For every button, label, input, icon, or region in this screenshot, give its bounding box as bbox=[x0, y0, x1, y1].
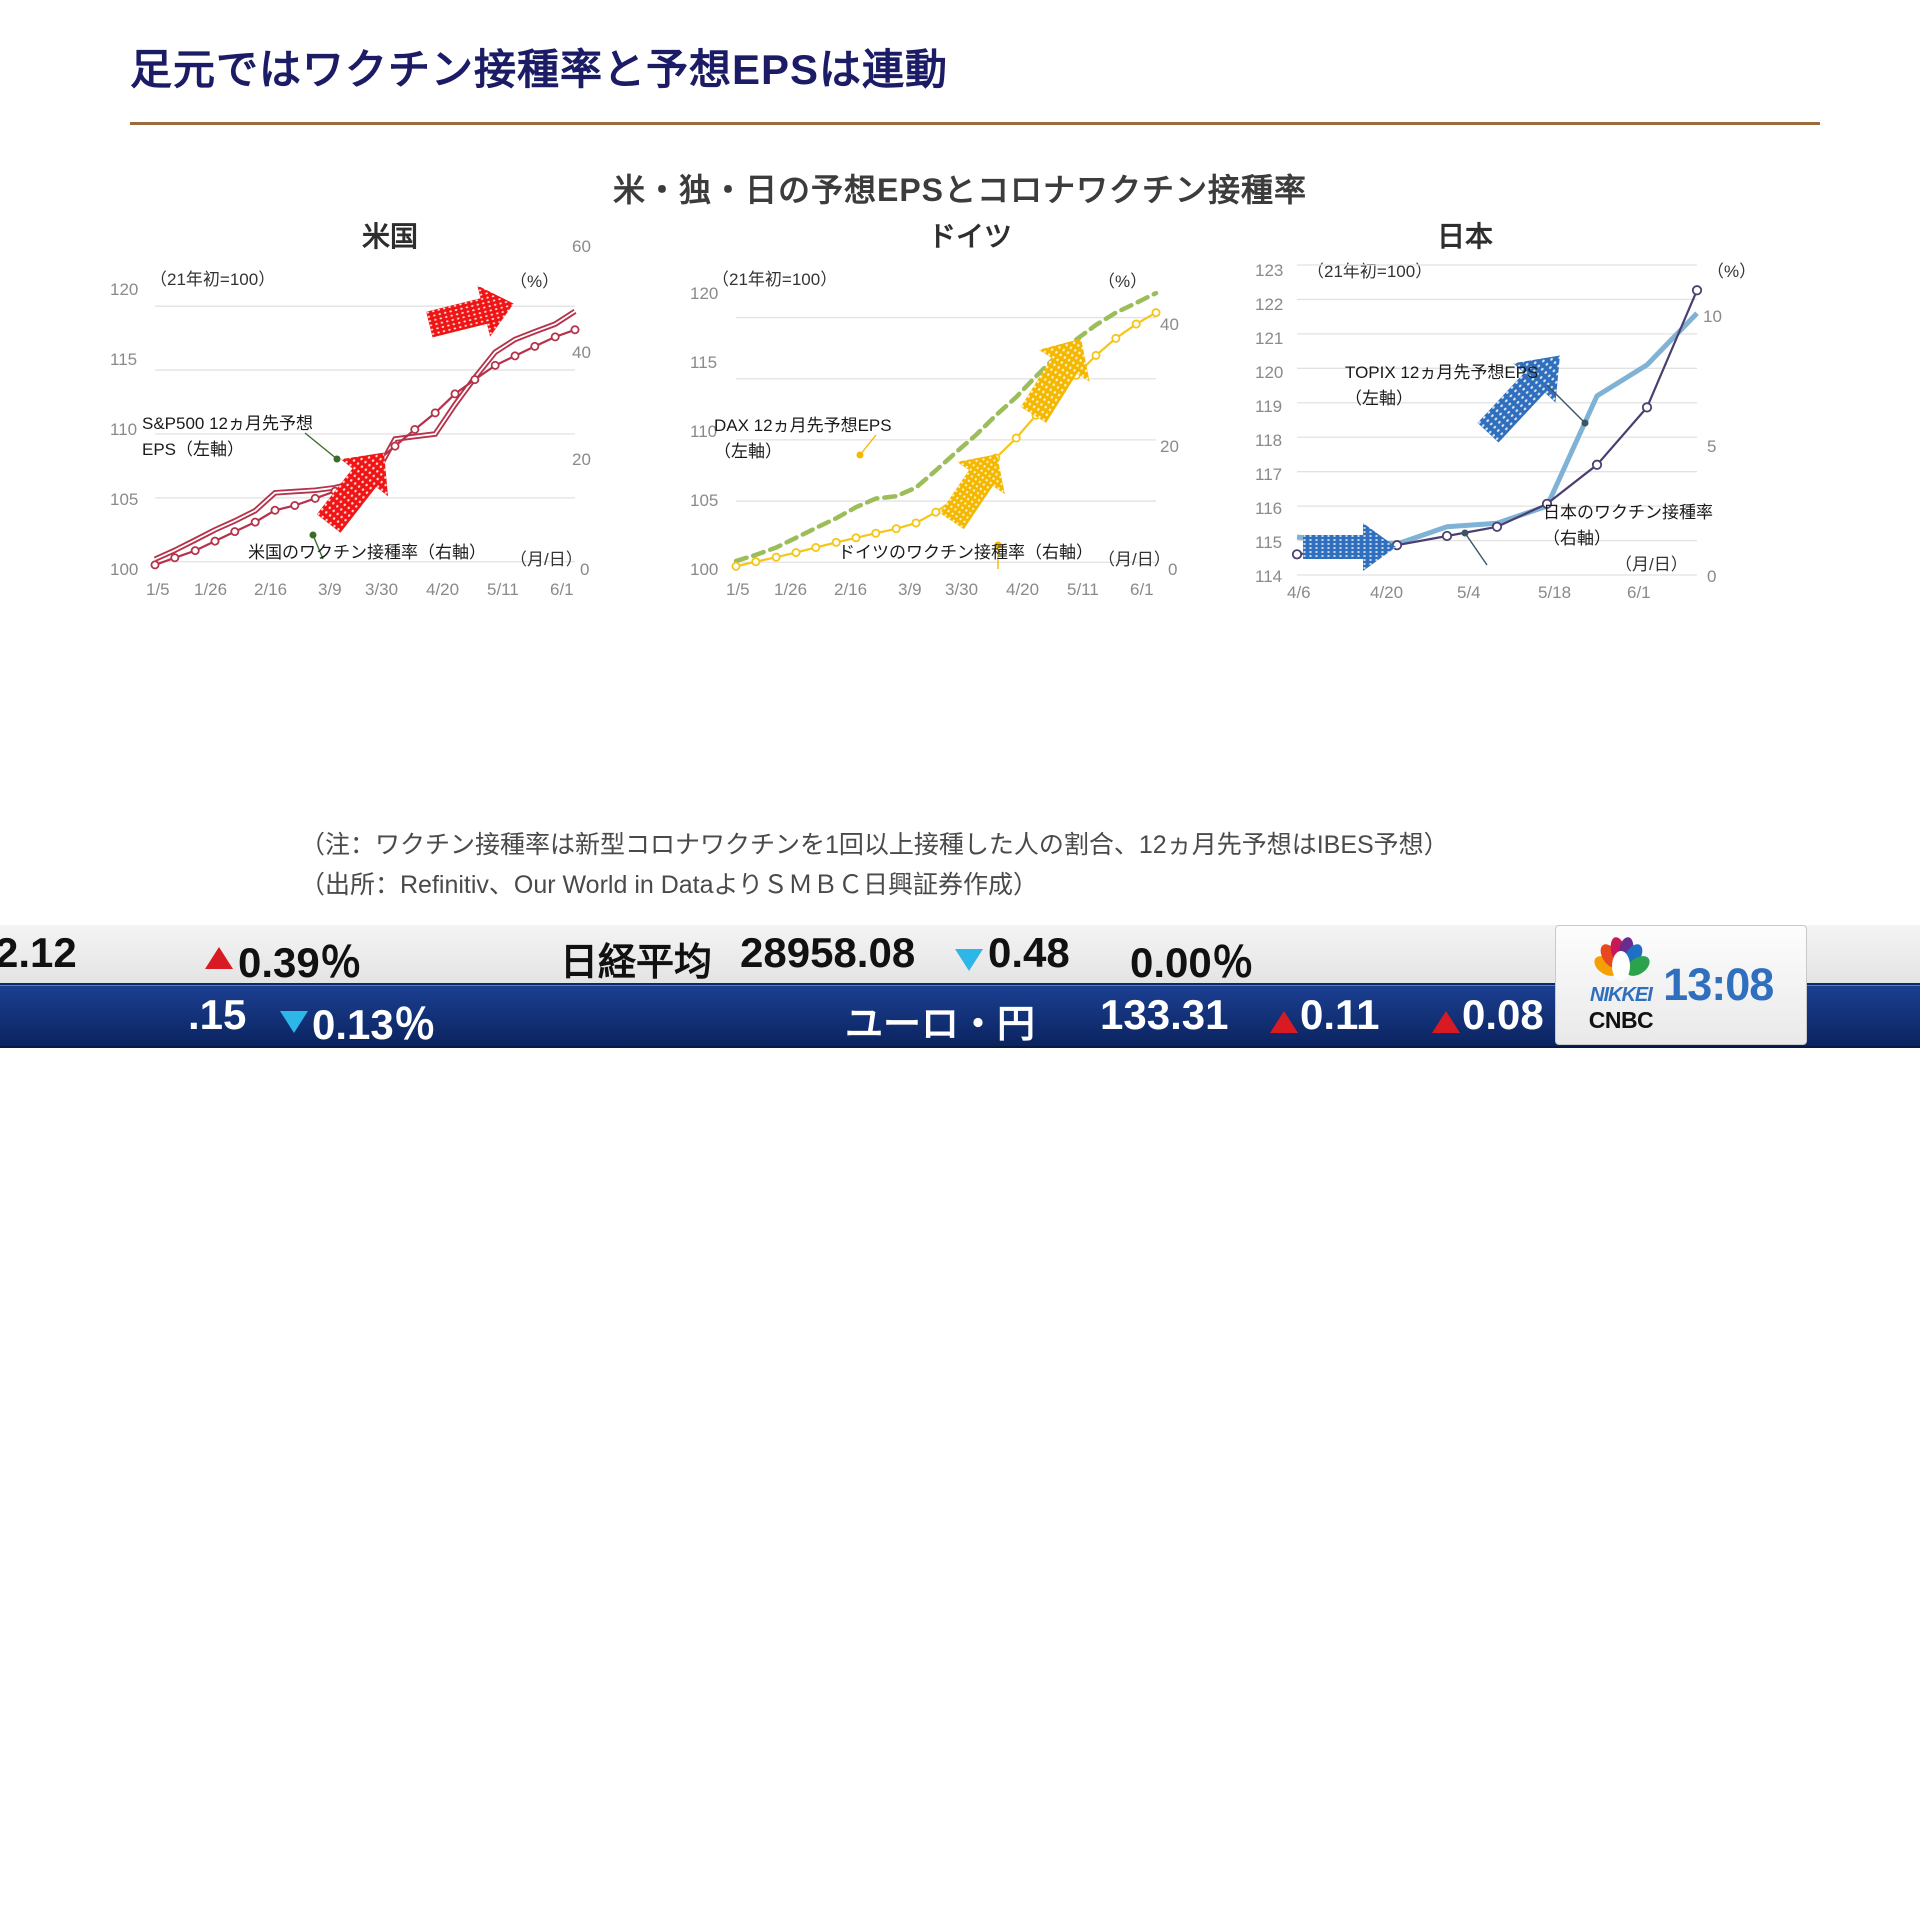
xtick-de-0: 1/5 bbox=[726, 580, 750, 600]
nikkei-cnbc-logo: NIKKEI CNBC bbox=[1589, 936, 1653, 1034]
xtick-us-4: 3/30 bbox=[365, 580, 398, 600]
ytick-us-115: 115 bbox=[110, 350, 137, 370]
xaxis-unit-de: （月/日） bbox=[1098, 545, 1171, 570]
ticker1-pct1: 0.39％ bbox=[238, 929, 362, 990]
annotation-jp-eps-l1: TOPIX 12ヵ月先予想EPS bbox=[1345, 363, 1538, 382]
annotation-de-eps-l2: （左軸） bbox=[714, 442, 782, 461]
nikkei-cnbc-logo-box: NIKKEI CNBC 13:08 bbox=[1555, 925, 1807, 1045]
quick-brand-logo: Quick bbox=[78, 1905, 134, 1931]
ytick-de-120: 120 bbox=[690, 284, 718, 304]
ytick-de-105: 105 bbox=[690, 491, 718, 511]
xtick-de-3: 3/9 bbox=[898, 580, 922, 600]
ytick-de-115: 115 bbox=[690, 353, 717, 373]
title-divider bbox=[130, 122, 1820, 125]
trend-arrow-icon bbox=[928, 438, 1021, 537]
y2tick-de-20: 20 bbox=[1160, 437, 1179, 457]
y2tick-jp-0: 0 bbox=[1707, 567, 1716, 587]
xtick-us-5: 4/20 bbox=[426, 580, 459, 600]
nikkei-wordmark: NIKKEI bbox=[1590, 984, 1652, 1007]
cnbc-wordmark: CNBC bbox=[1589, 1007, 1653, 1034]
xtick-de-4: 3/30 bbox=[945, 580, 978, 600]
trend-arrow-icon bbox=[1008, 323, 1107, 431]
panel-title-de: ドイツ bbox=[690, 215, 1250, 255]
ytick-jp-119: 119 bbox=[1255, 397, 1282, 417]
ytick-jp-115: 115 bbox=[1255, 533, 1282, 553]
xtick-jp-3: 5/18 bbox=[1538, 583, 1571, 603]
ytick-de-100: 100 bbox=[690, 560, 718, 580]
annotation-jp-eps: TOPIX 12ヵ月先予想EPS （左軸） bbox=[1345, 360, 1538, 413]
y2tick-jp-10: 10 bbox=[1703, 307, 1722, 327]
slide-canvas: 足元ではワクチン接種率と予想EPSは連動 米・独・日の予想EPSとコロナワクチン… bbox=[0, 0, 1920, 1080]
ticker1-arrow-up-icon bbox=[205, 947, 233, 969]
ytick-jp-121: 121 bbox=[1255, 329, 1283, 349]
ytick-jp-123: 123 bbox=[1255, 261, 1283, 281]
svg-text:足元ではワクチン接種率と予想EPSは連動: 足元ではワクチン接種率と予想EPSは連動 bbox=[130, 46, 948, 93]
ytick-us-110: 110 bbox=[110, 420, 137, 440]
chart-panel-us: 米国 （21年初=100） （%） 100 105 110 115 120 0 … bbox=[110, 215, 670, 755]
ticker1-label-nikkei: 日経平均 bbox=[560, 931, 712, 986]
chart-panel-de: ドイツ （21年初=100） （%） 100 105 110 115 120 0… bbox=[690, 215, 1250, 755]
annotation-jp-vax: 日本のワクチン接種率 （右軸） bbox=[1543, 500, 1713, 553]
footnotes: （注：ワクチン接種率は新型コロナワクチンを1回以上接種した人の割合、12ヵ月先予… bbox=[300, 825, 1449, 905]
xtick-de-6: 5/11 bbox=[1067, 580, 1099, 600]
y2tick-de-40: 40 bbox=[1160, 315, 1179, 335]
annotation-jp-vax-l1: 日本のワクチン接種率 bbox=[1543, 503, 1713, 522]
panel-title-jp: 日本 bbox=[1255, 215, 1675, 255]
annotation-jp-eps-l2: （左軸） bbox=[1345, 389, 1413, 408]
ytick-jp-122: 122 bbox=[1255, 295, 1283, 315]
annotation-us-eps: S&P500 12ヵ月先予想 EPS（左軸） bbox=[142, 411, 313, 464]
xtick-jp-0: 4/6 bbox=[1287, 583, 1311, 603]
ytick-jp-118: 118 bbox=[1255, 431, 1282, 451]
ticker2-change3: 0.08 bbox=[1462, 991, 1544, 1039]
annotation-us-vax: 米国のワクチン接種率（右軸） bbox=[248, 540, 486, 566]
chart-group-subtitle: 米・独・日の予想EPSとコロナワクチン接種率 bbox=[0, 165, 1920, 211]
ticker2-value2: 133.31 bbox=[1100, 991, 1228, 1039]
ticker2-label-eurjpy: ユーロ・円 bbox=[845, 993, 1035, 1048]
page-title: 足元ではワクチン接種率と予想EPSは連動 bbox=[130, 40, 1830, 103]
xtick-us-0: 1/5 bbox=[146, 580, 170, 600]
ytick-jp-116: 116 bbox=[1255, 499, 1282, 519]
y2tick-jp-5: 5 bbox=[1707, 437, 1716, 457]
chart-panel-jp: 日本 （21年初=100） （%） 114 115 116 117 118 11… bbox=[1255, 215, 1855, 755]
ytick-jp-120: 120 bbox=[1255, 363, 1283, 383]
ytick-us-105: 105 bbox=[110, 490, 138, 510]
ytick-us-120: 120 bbox=[110, 280, 138, 300]
annotation-de-vax: ドイツのワクチン接種率（右軸） bbox=[838, 540, 1093, 566]
ticker1-pct2: 0.00％ bbox=[1130, 929, 1254, 990]
ytick-jp-117: 117 bbox=[1255, 465, 1282, 485]
ticker1-value2: 28958.08 bbox=[740, 929, 915, 977]
ticker2-arrow-up-icon-1 bbox=[1270, 1011, 1298, 1033]
ticker1-arrow-down-icon bbox=[955, 949, 983, 971]
annotation-jp-vax-l2: （右軸） bbox=[1543, 529, 1611, 548]
xaxis-unit-jp: （月/日） bbox=[1615, 550, 1688, 575]
clock-display: 13:08 bbox=[1663, 959, 1773, 1011]
leader-line bbox=[1465, 533, 1487, 565]
xtick-us-7: 6/1 bbox=[550, 580, 574, 600]
ticker1-change2: 0.48 bbox=[988, 929, 1070, 977]
xtick-us-2: 2/16 bbox=[254, 580, 287, 600]
annotation-us-eps-l2: EPS（左軸） bbox=[142, 440, 244, 459]
xtick-us-3: 3/9 bbox=[318, 580, 342, 600]
xtick-jp-1: 4/20 bbox=[1370, 583, 1403, 603]
ticker2-arrow-down-icon bbox=[280, 1011, 308, 1033]
peacock-icon bbox=[1590, 936, 1652, 984]
y2tick-us-60: 60 bbox=[572, 237, 591, 257]
trend-arrow-icon bbox=[1303, 523, 1396, 571]
xtick-de-7: 6/1 bbox=[1130, 580, 1154, 600]
ticker2-value1: .15 bbox=[188, 991, 246, 1039]
ticker2-pct1: 0.13％ bbox=[312, 991, 436, 1052]
annotation-de-eps: DAX 12ヵ月先予想EPS （左軸） bbox=[714, 413, 892, 466]
trend-arrow-icon bbox=[423, 278, 520, 350]
ticker2-change2: 0.11 bbox=[1300, 991, 1379, 1039]
xtick-de-5: 4/20 bbox=[1006, 580, 1039, 600]
xtick-jp-2: 5/4 bbox=[1457, 583, 1481, 603]
ticker1-value1: 2.12 bbox=[0, 929, 77, 977]
leader-line bbox=[1547, 385, 1585, 423]
ytick-us-100: 100 bbox=[110, 560, 138, 580]
xtick-jp-4: 6/1 bbox=[1627, 583, 1651, 603]
annotation-us-eps-l1: S&P500 12ヵ月先予想 bbox=[142, 414, 313, 433]
ytick-jp-114: 114 bbox=[1255, 567, 1282, 587]
page-title-svg: 足元ではワクチン接種率と予想EPSは連動 bbox=[130, 40, 1830, 98]
ticker2-arrow-up-icon-2 bbox=[1432, 1011, 1460, 1033]
footnote-line-2: （出所：Refinitiv、Our World in DataよりＳＭＢＣ日興証… bbox=[300, 865, 1449, 905]
xaxis-unit-us: （月/日） bbox=[510, 545, 583, 570]
xtick-us-6: 5/11 bbox=[487, 580, 519, 600]
right-axis-unit-jp: （%） bbox=[1707, 257, 1756, 282]
xtick-de-2: 2/16 bbox=[834, 580, 867, 600]
xtick-de-1: 1/26 bbox=[774, 580, 807, 600]
footnote-line-1: （注：ワクチン接種率は新型コロナワクチンを1回以上接種した人の割合、12ヵ月先予… bbox=[300, 825, 1449, 865]
annotation-de-eps-l1: DAX 12ヵ月先予想EPS bbox=[714, 416, 892, 435]
xtick-us-1: 1/26 bbox=[194, 580, 227, 600]
